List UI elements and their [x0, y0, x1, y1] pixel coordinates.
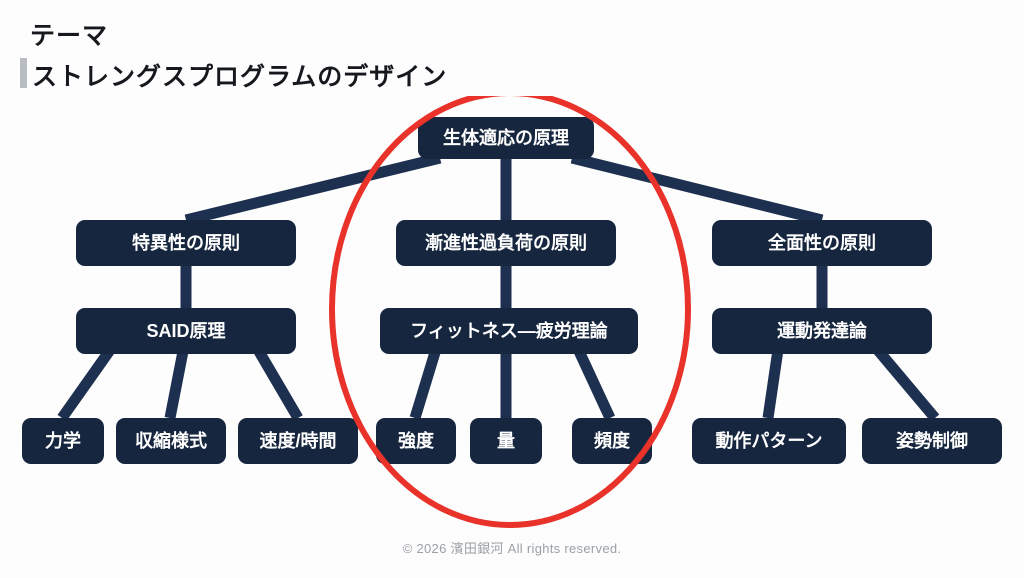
node-leaf-postural-control[interactable]: 姿勢制御	[862, 418, 1002, 464]
theme-label: テーマ	[30, 16, 108, 52]
node-leaf-velocity-time[interactable]: 速度/時間	[238, 418, 358, 464]
node-label: 動作パターン	[715, 432, 822, 450]
node-label: 頻度	[594, 432, 630, 450]
node-label: フィットネス―疲労理論	[410, 322, 608, 340]
node-leaf-intensity[interactable]: 強度	[376, 418, 456, 464]
node-label: SAID原理	[146, 322, 225, 340]
node-label: 特異性の原則	[132, 234, 240, 252]
node-label: 強度	[398, 432, 434, 450]
node-level3-motor-development[interactable]: 運動発達論	[712, 308, 932, 354]
node-leaf-movement-pattern[interactable]: 動作パターン	[692, 418, 846, 464]
node-label: 漸進性過負荷の原則	[425, 234, 587, 252]
node-level3-fitness-fatigue[interactable]: フィットネス―疲労理論	[380, 308, 638, 354]
node-label: 生体適応の原理	[443, 129, 569, 147]
node-label: 速度/時間	[259, 432, 336, 450]
node-root[interactable]: 生体適応の原理	[418, 117, 594, 159]
node-label: 収縮様式	[135, 432, 207, 450]
node-label: 姿勢制御	[896, 432, 968, 450]
page-title: ストレングスプログラムのデザイン	[32, 57, 447, 93]
node-label: 力学	[45, 432, 81, 450]
node-level2-specificity[interactable]: 特異性の原則	[76, 220, 296, 266]
node-label: 全面性の原則	[768, 234, 876, 252]
node-leaf-mechanics[interactable]: 力学	[22, 418, 104, 464]
node-label: 運動発達論	[777, 322, 867, 340]
node-level2-all-round[interactable]: 全面性の原則	[712, 220, 932, 266]
node-level3-said[interactable]: SAID原理	[76, 308, 296, 354]
node-label: 量	[497, 432, 515, 450]
slide-header: テーマ ストレングスプログラムのデザイン	[0, 0, 1024, 96]
node-leaf-contraction-type[interactable]: 収縮様式	[116, 418, 226, 464]
node-leaf-frequency[interactable]: 頻度	[572, 418, 652, 464]
slide-root: テーマ ストレングスプログラムのデザイン	[0, 0, 1024, 578]
title-accent-bar	[20, 58, 27, 88]
footer-copyright: © 2026 濱田銀河 All rights reserved.	[0, 538, 1024, 557]
node-level2-progressive-overload[interactable]: 漸進性過負荷の原則	[396, 220, 616, 266]
hierarchy-diagram: 生体適応の原理 特異性の原則 漸進性過負荷の原則 全面性の原則 SAID原理 フ…	[0, 96, 1024, 536]
node-leaf-volume[interactable]: 量	[470, 418, 542, 464]
